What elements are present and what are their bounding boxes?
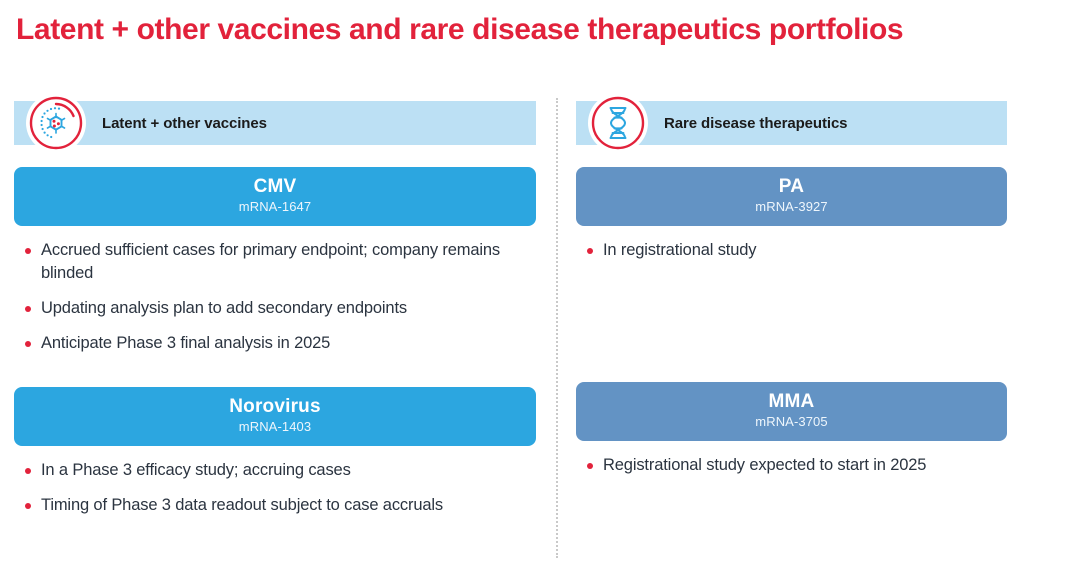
program-pa: PA mRNA-3927 In registrational study [576,167,1007,262]
list-item: In registrational study [586,239,1007,262]
bullet-list-norovirus: In a Phase 3 efficacy study; accruing ca… [14,459,536,517]
program-name: MMA [586,391,997,413]
bullet-list-mma: Registrational study expected to start i… [576,454,1007,477]
list-item: Anticipate Phase 3 final analysis in 202… [24,332,536,355]
spacer [14,355,536,387]
program-code: mRNA-1647 [24,198,526,215]
section-label: Rare disease therapeutics [664,115,847,132]
program-code: mRNA-3927 [586,198,997,215]
section-label: Latent + other vaccines [102,115,267,132]
program-card-header-pa[interactable]: PA mRNA-3927 [576,167,1007,226]
program-cmv: CMV mRNA-1647 Accrued sufficient cases f… [14,167,536,355]
section-header-rare-disease-therapeutics: Rare disease therapeutics [576,101,1007,145]
list-item: Accrued sufficient cases for primary end… [24,239,536,285]
bullet-list-cmv: Accrued sufficient cases for primary end… [14,239,536,355]
bullet-list-pa: In registrational study [576,239,1007,262]
program-code: mRNA-1403 [24,418,526,435]
list-item: In a Phase 3 efficacy study; accruing ca… [24,459,536,482]
spacer [576,262,1007,382]
list-item: Timing of Phase 3 data readout subject t… [24,494,536,517]
dna-helix-icon [588,93,648,153]
list-item: Updating analysis plan to add secondary … [24,297,536,320]
program-mma: MMA mRNA-3705 Registrational study expec… [576,382,1007,477]
column-rare-disease-therapeutics: Rare disease therapeutics PA mRNA-3927 I… [576,101,1007,477]
program-card-header-mma[interactable]: MMA mRNA-3705 [576,382,1007,441]
column-divider [556,98,558,558]
program-norovirus: Norovirus mRNA-1403 In a Phase 3 efficac… [14,387,536,517]
program-name: Norovirus [24,396,526,418]
program-card-header-norovirus[interactable]: Norovirus mRNA-1403 [14,387,536,446]
spacer [14,145,536,167]
slide-canvas: Latent + other vaccines and rare disease… [0,0,1080,569]
program-card-header-cmv[interactable]: CMV mRNA-1647 [14,167,536,226]
column-latent-other-vaccines: Latent + other vaccines CMV mRNA-1647 Ac… [14,101,536,517]
program-name: PA [586,176,997,198]
page-title: Latent + other vaccines and rare disease… [16,13,903,47]
section-header-latent-other-vaccines: Latent + other vaccines [14,101,536,145]
virus-particle-icon [26,93,86,153]
program-code: mRNA-3705 [586,413,997,430]
list-item: Registrational study expected to start i… [586,454,1007,477]
program-name: CMV [24,176,526,198]
